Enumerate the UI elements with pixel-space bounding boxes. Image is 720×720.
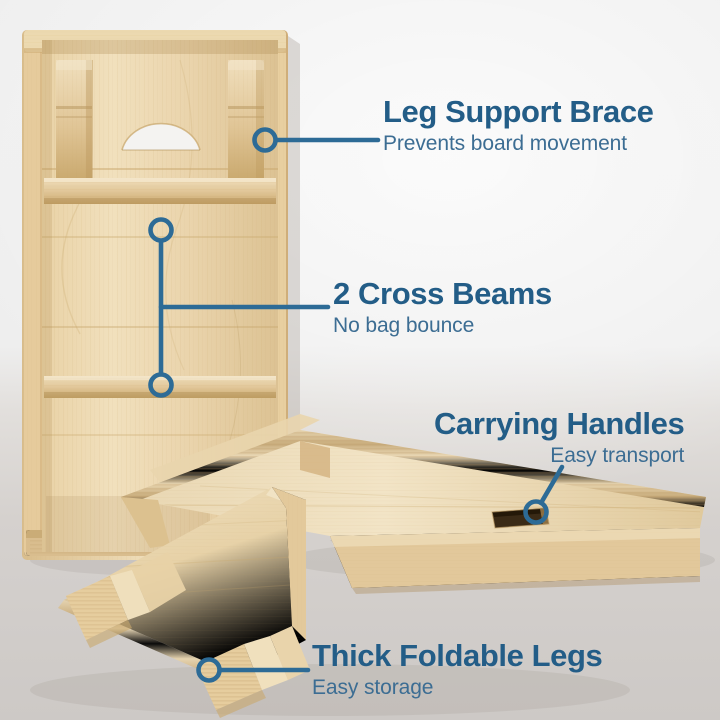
callout-subtitle: Easy transport (434, 444, 684, 468)
leader-leg-support-brace (255, 130, 379, 151)
infographic-canvas: Leg Support Brace Prevents board movemen… (0, 0, 720, 720)
leader-cross-beams (151, 220, 329, 396)
callout-title: 2 Cross Beams (333, 278, 552, 311)
callout-subtitle: No bag bounce (333, 314, 552, 338)
callout-cross-beams: 2 Cross Beams No bag bounce (333, 278, 552, 338)
callout-title: Carrying Handles (434, 408, 684, 441)
callout-leg-support-brace: Leg Support Brace Prevents board movemen… (383, 96, 654, 156)
callout-subtitle: Easy storage (312, 676, 602, 700)
callout-foldable-legs: Thick Foldable Legs Easy storage (312, 640, 602, 700)
callout-title: Thick Foldable Legs (312, 640, 602, 673)
leader-carrying-handles (526, 467, 563, 523)
callout-carrying-handles: Carrying Handles Easy transport (434, 408, 684, 468)
callout-subtitle: Prevents board movement (383, 132, 654, 156)
leader-foldable-legs (199, 660, 309, 681)
callout-title: Leg Support Brace (383, 96, 654, 129)
